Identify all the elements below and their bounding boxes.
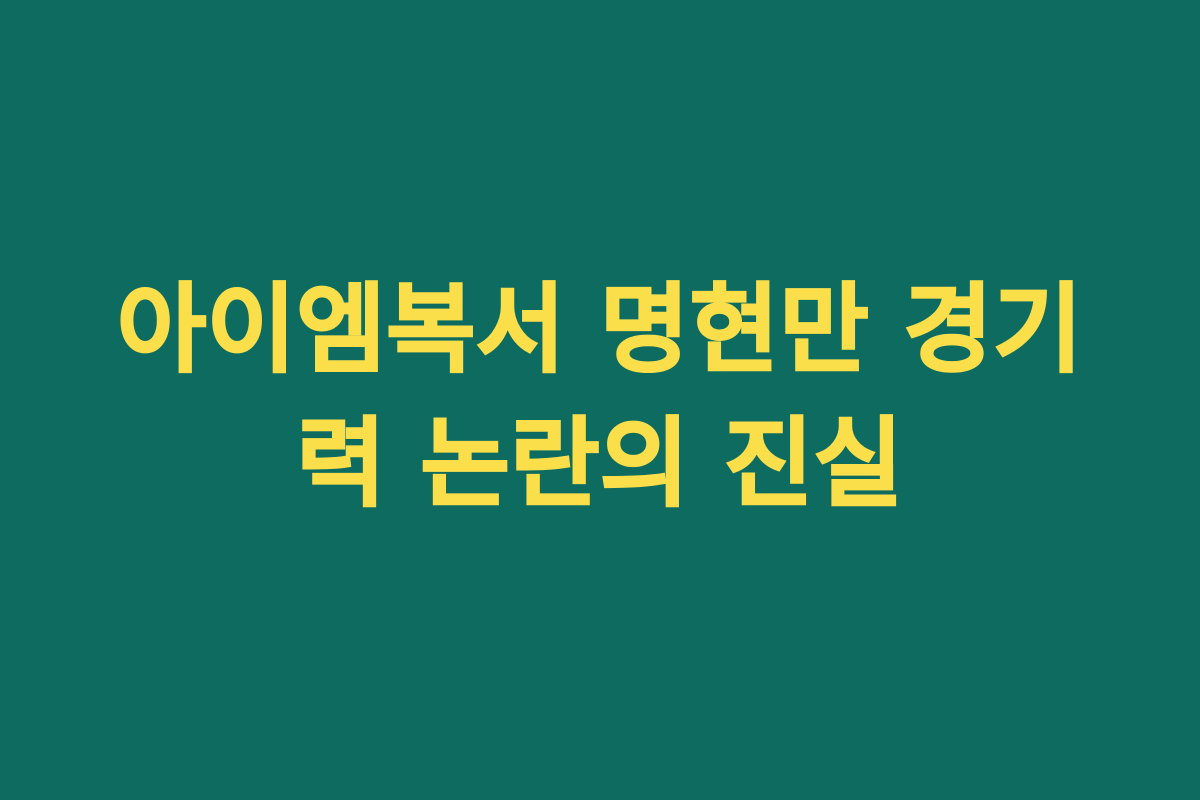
headline-line-1: 아이엠복서 명현만 경기 <box>117 263 1083 397</box>
thumbnail-canvas: 아이엠복서 명현만 경기 력 논란의 진실 <box>0 0 1200 800</box>
headline-line-2: 력 논란의 진실 <box>297 397 904 531</box>
headline-text-block: 아이엠복서 명현만 경기 력 논란의 진실 <box>95 263 1105 531</box>
